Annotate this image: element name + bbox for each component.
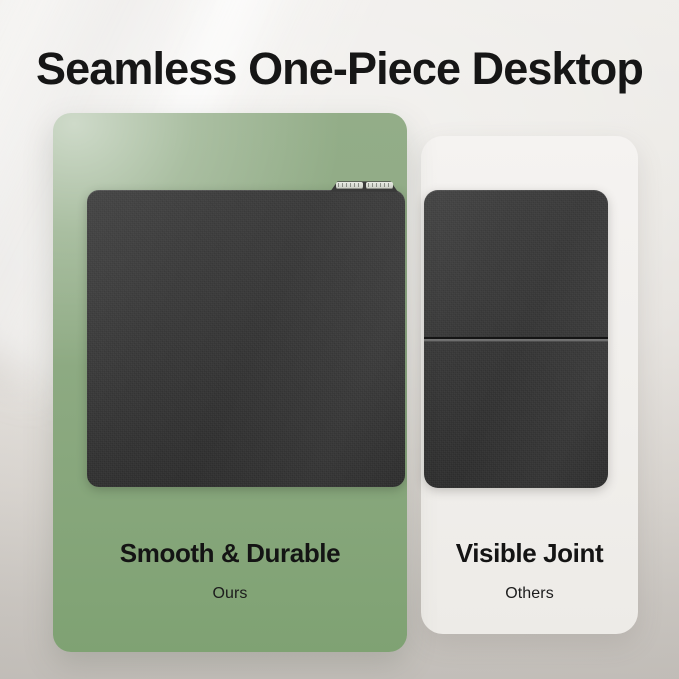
- desk-texture-overlay: [424, 190, 608, 488]
- page-title: Seamless One-Piece Desktop: [36, 44, 646, 94]
- visible-joint-seam: [424, 337, 608, 342]
- desk-sheen-overlay: [424, 190, 608, 488]
- caption-others-headline: Visible Joint: [421, 538, 638, 568]
- caption-others: Visible Joint Others: [421, 538, 638, 604]
- desk-sheen-overlay: [87, 190, 405, 487]
- caption-others-sublabel: Others: [421, 584, 638, 604]
- caption-ours-headline: Smooth & Durable: [53, 538, 407, 568]
- caption-ours-sublabel: Ours: [53, 584, 407, 604]
- caption-ours: Smooth & Durable Ours: [53, 538, 407, 604]
- cable-grommet-icon: [330, 179, 398, 192]
- grommet-clip-right: [366, 182, 393, 189]
- desk-surface-ours: [87, 190, 405, 487]
- product-comparison-graphic: Seamless One-Piece Desktop Smooth & Dura…: [0, 0, 679, 679]
- desk-texture-overlay: [87, 190, 405, 487]
- desk-surface-others: [424, 190, 608, 488]
- grommet-clip-left: [336, 182, 363, 189]
